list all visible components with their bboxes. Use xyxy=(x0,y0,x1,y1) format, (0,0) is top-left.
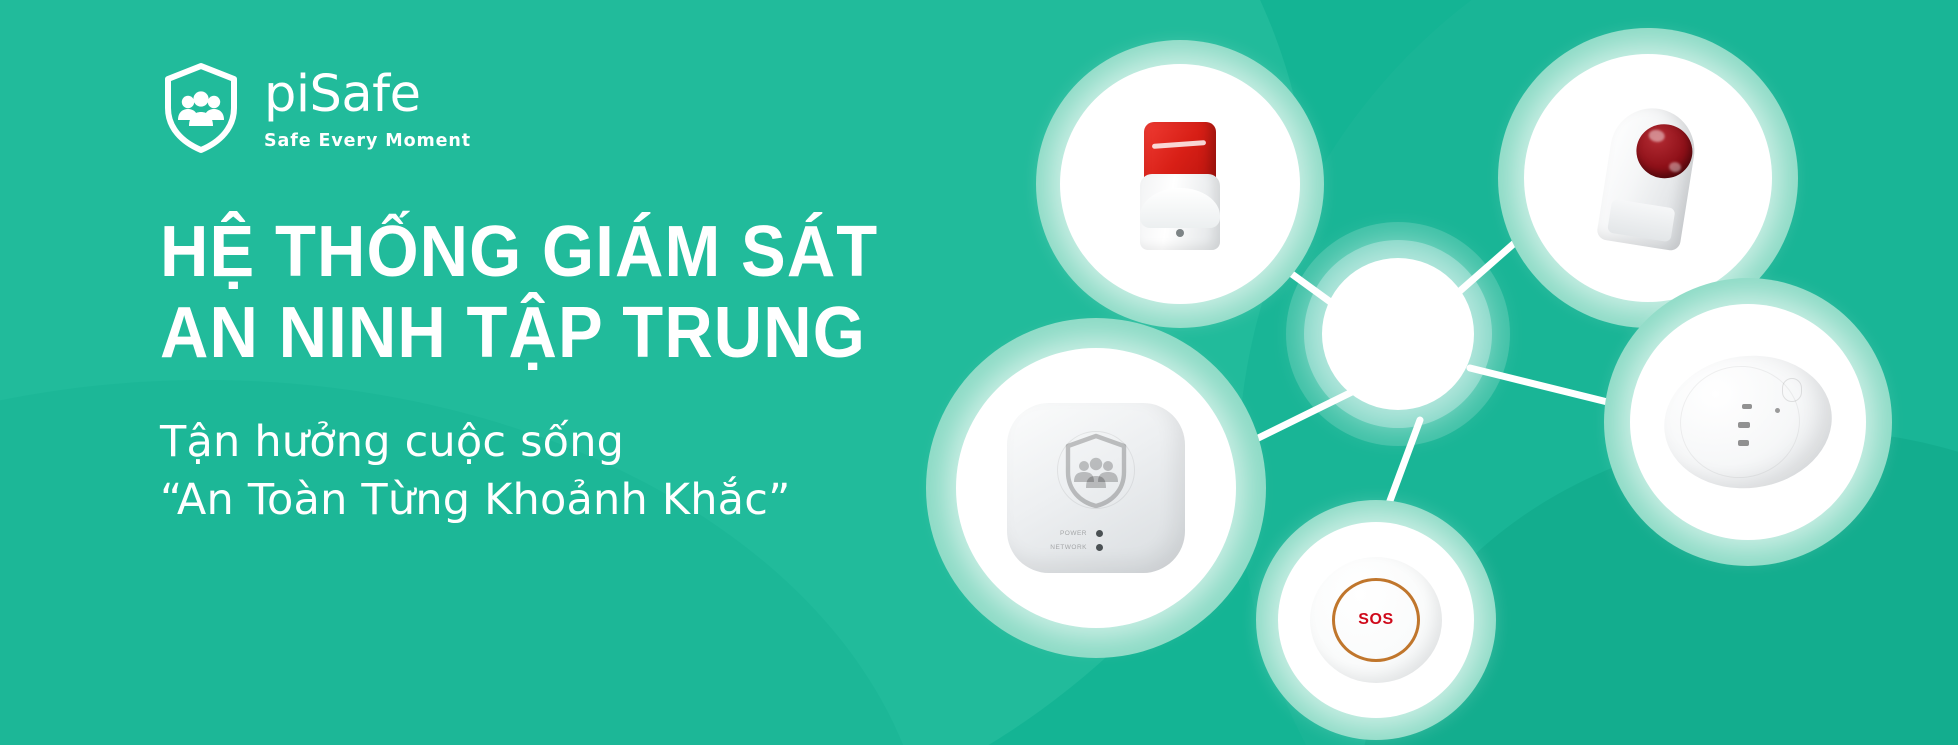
subheadline-line-2: “An Toàn Từng Khoảnh Khắc” xyxy=(160,471,1040,529)
promo-banner: piSafe Safe Every Moment HỆ THỐNG GIÁM S… xyxy=(0,0,1958,745)
motion-detector-icon xyxy=(1582,100,1715,256)
smoke-detector-icon xyxy=(1664,356,1832,488)
brand-name: piSafe xyxy=(264,69,471,120)
brand-logo[interactable]: piSafe Safe Every Moment xyxy=(160,62,1040,154)
siren-strobe-icon xyxy=(1128,118,1232,250)
device-node-siren-strobe[interactable]: Còi báo động chớp đèn xyxy=(1036,40,1324,328)
gateway-led-row-network: NETWORK xyxy=(1041,544,1103,551)
page-subtitle: Tận hưởng cuộc sống “An Toàn Từng Khoảnh… xyxy=(160,413,1040,529)
gateway-led-indicators: POWER NETWORK xyxy=(1041,530,1103,551)
device-network-diagram: Còi báo động chớp đèn Đầu báo chuyển độn… xyxy=(1048,0,1958,745)
brand-tagline: Safe Every Moment xyxy=(264,131,471,151)
sos-button-icon: SOS xyxy=(1310,557,1442,683)
gateway-logo-ring xyxy=(1057,431,1135,509)
hub-disc xyxy=(1322,258,1474,410)
page-title: HỆ THỐNG GIÁM SÁT AN NINH TẬP TRUNG xyxy=(160,212,1040,375)
headline-line-2: AN NINH TẬP TRUNG xyxy=(160,293,978,374)
smoke-detector-led xyxy=(1775,408,1780,413)
gateway-led-row-power: POWER xyxy=(1041,530,1103,537)
shield-people-icon xyxy=(1058,432,1134,508)
subheadline-line-1: Tận hưởng cuộc sống xyxy=(160,413,1040,471)
motion-detector-shell xyxy=(1596,102,1701,251)
smoke-detector-vent xyxy=(1738,422,1750,428)
gateway-led-dot-network xyxy=(1096,544,1103,551)
smoke-detector-vent xyxy=(1742,404,1752,409)
gateway-led-label-power: POWER xyxy=(1041,530,1087,537)
gateway-led-dot-power xyxy=(1096,530,1103,537)
device-node-sos-button[interactable]: SOS Nút nhấn khẩn cấp xyxy=(1256,500,1496,740)
hub-node[interactable] xyxy=(1286,222,1510,446)
device-node-smoke-detector[interactable]: Đầu báo khói xyxy=(1604,278,1892,566)
brand-wordmark-group: piSafe Safe Every Moment xyxy=(264,65,471,151)
gateway-led-label-network: NETWORK xyxy=(1041,544,1087,551)
sos-button-label: SOS xyxy=(1310,611,1442,629)
headline-line-1: HỆ THỐNG GIÁM SÁT xyxy=(160,212,978,293)
hero-text-column: piSafe Safe Every Moment HỆ THỐNG GIÁM S… xyxy=(160,62,1040,529)
smoke-detector-vent xyxy=(1738,440,1749,446)
smoke-detector-test-button xyxy=(1782,378,1802,402)
shield-people-icon xyxy=(160,62,242,154)
